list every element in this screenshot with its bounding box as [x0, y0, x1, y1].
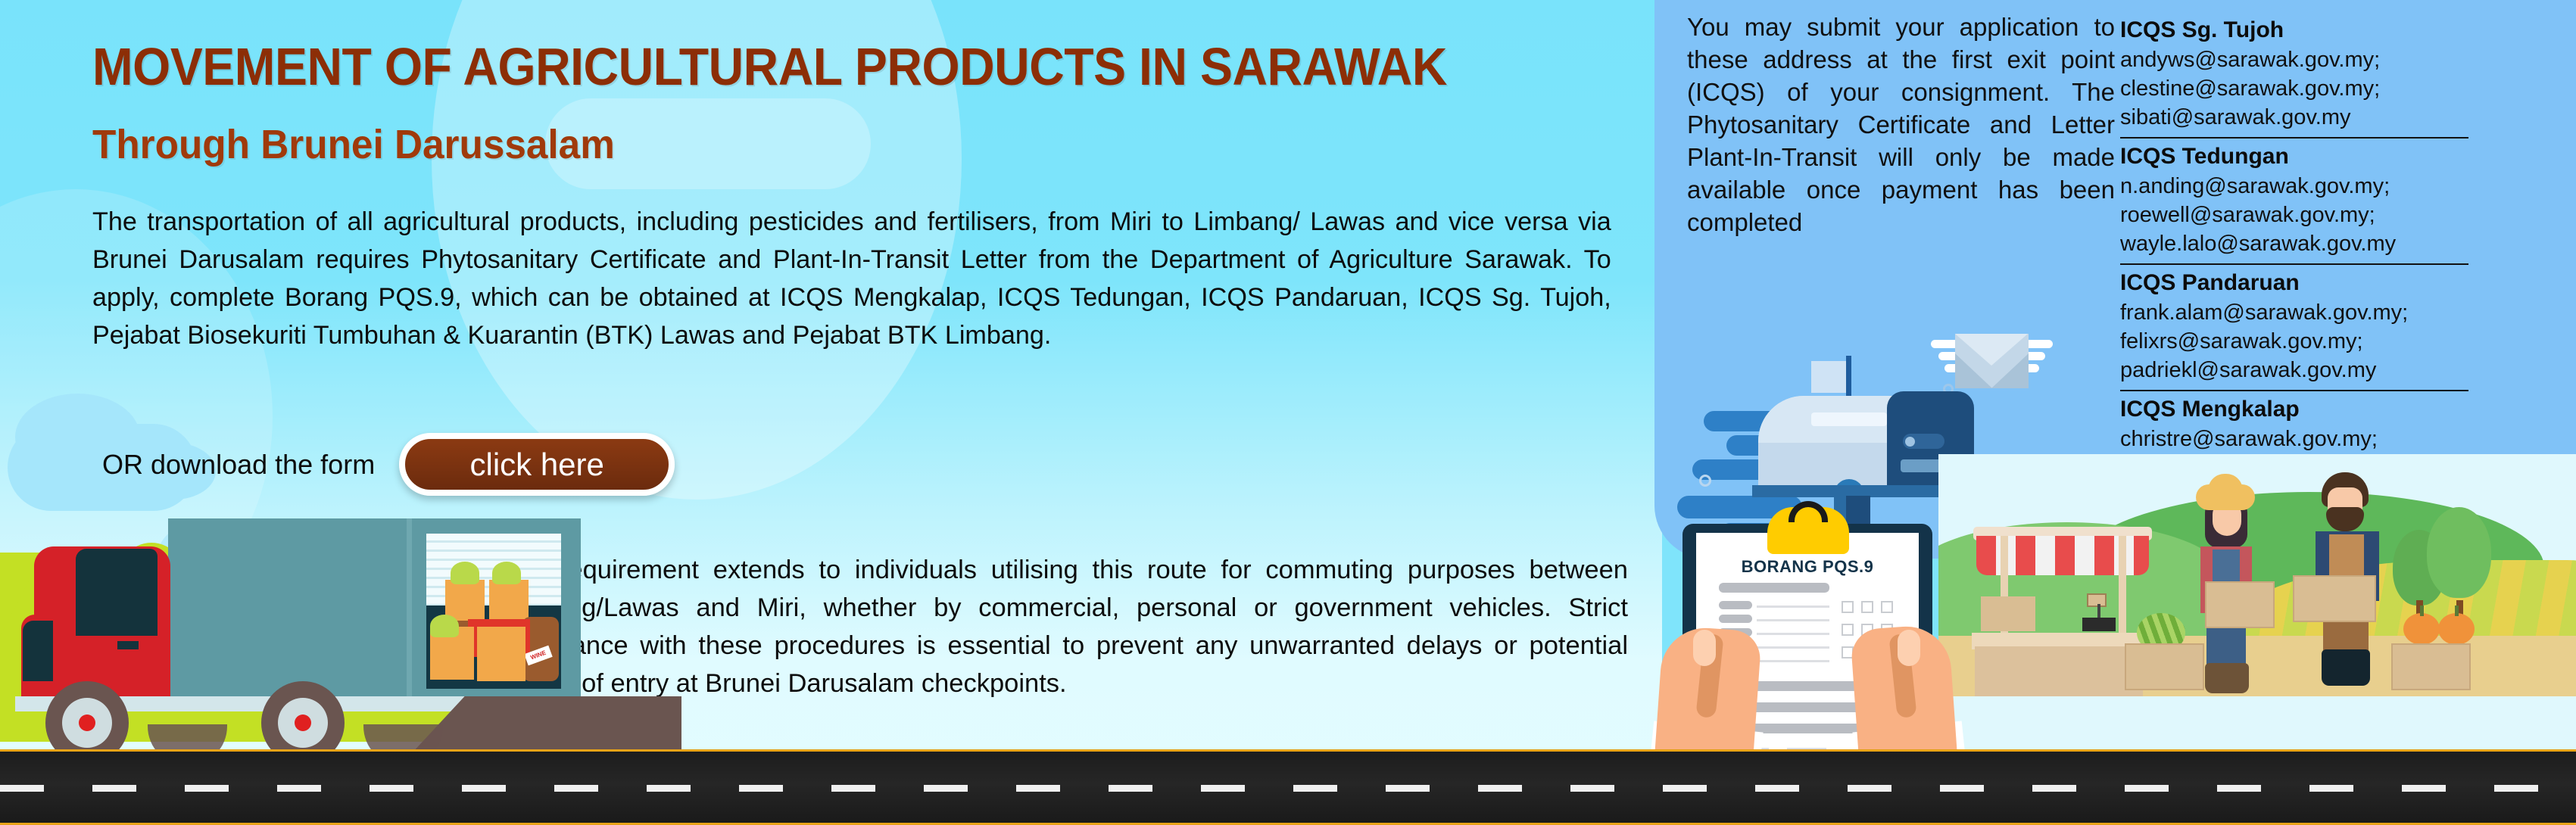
contact-email[interactable]: felixrs@sarawak.gov.my;	[2120, 327, 2468, 356]
mailbox-flag	[1811, 361, 1851, 393]
contact-email[interactable]: sibati@sarawak.gov.my	[2120, 103, 2468, 132]
vegetable-icon	[451, 562, 479, 584]
form-title: BORANG PQS.9	[1683, 557, 1932, 577]
tree-icon	[2427, 507, 2491, 598]
beard	[2326, 507, 2364, 531]
envelope-fold-right	[1991, 353, 2029, 388]
form-rule	[1757, 633, 1829, 635]
mailbox-slot	[1811, 412, 1887, 426]
page-title: MOVEMENT OF AGRICULTURAL PRODUCTS IN SAR…	[92, 36, 1447, 97]
contact-email[interactable]: andyws@sarawak.gov.my;	[2120, 45, 2468, 74]
download-label: OR download the form	[102, 449, 375, 481]
envelope-icon	[1955, 334, 2029, 388]
pumpkin-icon	[2403, 613, 2440, 645]
stall-lower-crates	[1975, 646, 2143, 696]
wheel-hub	[62, 698, 112, 748]
weighing-scale-icon	[2082, 618, 2116, 631]
infographic-banner: MOVEMENT OF AGRICULTURAL PRODUCTS IN SAR…	[0, 0, 2576, 825]
envelope-body	[1955, 334, 2029, 388]
produce-crate	[2391, 643, 2471, 690]
vegetable-icon	[430, 615, 459, 637]
contact-email[interactable]: n.anding@sarawak.gov.my;	[2120, 172, 2468, 201]
stall-post	[2119, 536, 2126, 634]
form-rule	[1757, 619, 1829, 621]
weighing-scale-display	[2087, 593, 2107, 607]
truck-cargo-body	[168, 518, 407, 704]
truck-front-panel	[23, 621, 53, 681]
pumpkin-icon	[2438, 613, 2475, 645]
intro-paragraph: The transportation of all agricultural p…	[92, 203, 1611, 354]
boots	[2322, 649, 2370, 686]
contact-office-name: ICQS Tedungan	[2120, 142, 2468, 172]
contact-email[interactable]: christre@sarawak.gov.my;	[2120, 425, 2468, 453]
contact-office-name: ICQS Mengkalap	[2120, 394, 2468, 425]
page-subtitle: Through Brunei Darussalam	[92, 121, 615, 168]
submit-instructions: You may submit your application to these…	[1687, 11, 2115, 238]
produce-box	[1981, 596, 2035, 631]
contact-email[interactable]: roewell@sarawak.gov.my;	[2120, 201, 2468, 229]
weighing-scale-pole	[2097, 604, 2100, 618]
road-lane-markings	[0, 785, 2576, 792]
form-rule	[1757, 606, 1829, 608]
vegetable-icon	[492, 562, 521, 584]
contact-email[interactable]: padriekl@sarawak.gov.my	[2120, 356, 2468, 384]
thumbnail-right	[1898, 630, 1920, 666]
truck-door-handle	[117, 641, 139, 649]
contact-block: ICQS Sg. Tujoh andyws@sarawak.gov.my; cl…	[2120, 15, 2468, 132]
clipboard-clip	[1767, 507, 1849, 554]
thumbnail-left	[1693, 630, 1716, 666]
held-produce-crate	[2205, 581, 2275, 628]
download-row: OR download the form click here	[102, 433, 675, 496]
wheel-hub	[278, 698, 328, 748]
mailbox-handle	[1903, 434, 1944, 449]
farm-market-illustration	[1938, 454, 2576, 749]
form-field-bar	[1719, 583, 1829, 593]
contact-office-name: ICQS Pandaruan	[2120, 268, 2468, 298]
form-checkbox[interactable]	[1861, 601, 1873, 613]
contact-block: ICQS Pandaruan frank.alam@sarawak.gov.my…	[2120, 263, 2468, 384]
click-here-button[interactable]: click here	[399, 433, 675, 496]
envelope-fold-left	[1955, 353, 1992, 388]
form-field-bar	[1719, 615, 1752, 623]
contact-email[interactable]: wayle.lalo@sarawak.gov.my	[2120, 229, 2468, 258]
form-checkbox[interactable]	[1881, 601, 1893, 613]
bubble-dot	[1699, 475, 1711, 487]
road	[0, 749, 2576, 825]
cargo-crate	[477, 627, 525, 681]
form-checkbox[interactable]	[1842, 601, 1854, 613]
pumpkin-stem	[2420, 606, 2424, 616]
form-field-bar	[1719, 601, 1752, 609]
form-rule	[1757, 660, 1829, 662]
hat-icon	[2196, 484, 2255, 510]
pumpkin-stem	[2455, 606, 2459, 616]
truck-window	[76, 549, 157, 636]
boots	[2205, 663, 2249, 693]
form-rule	[1757, 646, 1829, 649]
contact-email[interactable]: frank.alam@sarawak.gov.my;	[2120, 298, 2468, 327]
held-produce-crate	[2293, 575, 2376, 622]
contacts-list: ICQS Sg. Tujoh andyws@sarawak.gov.my; cl…	[2120, 15, 2468, 484]
contact-office-name: ICQS Sg. Tujoh	[2120, 15, 2468, 45]
contact-block: ICQS Tedungan n.anding@sarawak.gov.my; r…	[2120, 137, 2468, 258]
contact-email[interactable]: clestine@sarawak.gov.my;	[2120, 74, 2468, 103]
form-checkbox[interactable]	[1842, 624, 1854, 636]
